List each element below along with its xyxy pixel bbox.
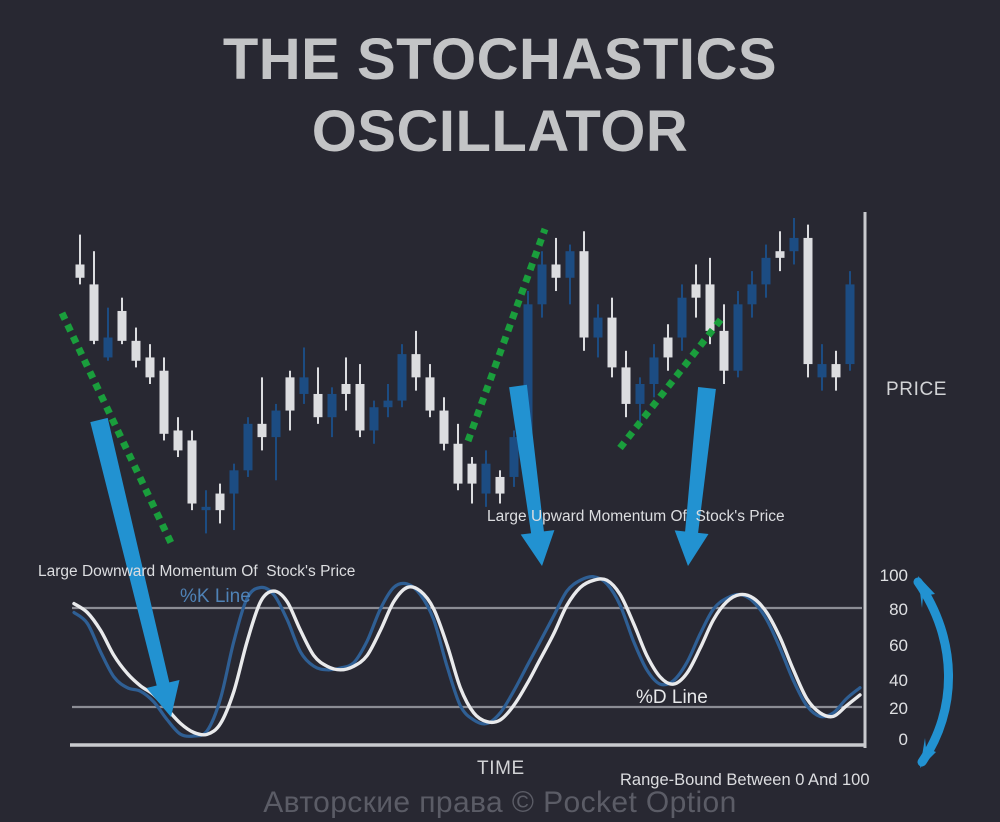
candle-body	[818, 364, 827, 377]
candle-body	[230, 470, 239, 493]
candle-body	[384, 401, 393, 408]
candle-body	[664, 338, 673, 358]
range-bound-arrow	[918, 576, 949, 768]
candle-body	[426, 377, 435, 410]
candle-body	[118, 311, 127, 341]
candle-body	[412, 354, 421, 377]
candle-body	[762, 258, 771, 285]
candle-body	[608, 318, 617, 368]
uptrend-mid	[468, 229, 545, 441]
y-axis-tick-100: 100	[872, 566, 908, 586]
downward-momentum-label: Large Downward Momentum Of Stock's Price	[38, 563, 355, 581]
candle-body	[790, 238, 799, 251]
y-axis-tick-20: 20	[872, 699, 908, 719]
candle-body	[440, 411, 449, 444]
candle-body	[748, 284, 757, 304]
candle-body	[622, 367, 631, 404]
price-axis-label: PRICE	[886, 379, 947, 401]
upward-momentum-arrow-2	[675, 387, 716, 566]
candle-body	[286, 377, 295, 410]
copyright-watermark: Авторские права © Pocket Option	[0, 786, 1000, 820]
y-axis-tick-40: 40	[872, 671, 908, 691]
d-line-label: %D Line	[636, 687, 708, 709]
candle-body	[398, 354, 407, 400]
candle-body	[692, 284, 701, 297]
candle-body	[132, 341, 141, 361]
candle-body	[258, 424, 267, 437]
candle-body	[454, 444, 463, 484]
candle-body	[146, 357, 155, 377]
candle-body	[216, 494, 225, 511]
candle-body	[776, 251, 785, 258]
page-title-line-1: THE STOCHASTICS	[0, 24, 1000, 96]
candle-body	[342, 384, 351, 394]
candle-body	[720, 331, 729, 371]
page-title: THE STOCHASTICS OSCILLATOR	[0, 24, 1000, 168]
k-line-label: %K Line	[180, 586, 251, 608]
candle-body	[804, 238, 813, 364]
candle-body	[174, 430, 183, 450]
candle-body	[482, 464, 491, 494]
candle-body	[188, 440, 197, 503]
candle-body	[846, 284, 855, 364]
candle-body	[594, 318, 603, 338]
candle-body	[734, 304, 743, 370]
candle-body	[356, 384, 365, 430]
candle-body	[202, 507, 211, 510]
candle-body	[300, 377, 309, 394]
candle-body	[678, 298, 687, 338]
candle-body	[468, 464, 477, 484]
candle-body	[636, 384, 645, 404]
candle-body	[832, 364, 841, 377]
candle-body	[244, 424, 253, 470]
y-axis-tick-0: 0	[872, 730, 908, 750]
candle-body	[496, 477, 505, 494]
stochastics-chart-svg	[0, 190, 1000, 822]
momentum-arrow-group	[90, 385, 716, 717]
upward-momentum-label: Large Upward Momentum Of Stock's Price	[487, 508, 785, 526]
candle-body	[76, 264, 85, 277]
y-axis-tick-80: 80	[872, 600, 908, 620]
candle-body	[272, 411, 281, 438]
infographic-canvas: THE STOCHASTICS OSCILLATOR	[0, 0, 1000, 822]
candle-body	[90, 284, 99, 340]
candle-body	[510, 437, 519, 477]
candlestick-series	[76, 218, 855, 533]
candle-body	[104, 338, 113, 358]
time-axis-label: TIME	[477, 758, 525, 780]
candle-body	[566, 251, 575, 278]
y-axis-tick-60: 60	[872, 636, 908, 656]
candle-body	[314, 394, 323, 417]
candle-body	[650, 357, 659, 384]
page-title-line-2: OSCILLATOR	[0, 96, 1000, 168]
candle-body	[706, 284, 715, 330]
candle-body	[552, 264, 561, 277]
candle-body	[580, 251, 589, 337]
chart-surface: 100806040200	[0, 190, 1000, 790]
candle-body	[160, 371, 169, 434]
candle-body	[370, 407, 379, 430]
candle-body	[538, 264, 547, 304]
candle-body	[328, 394, 337, 417]
